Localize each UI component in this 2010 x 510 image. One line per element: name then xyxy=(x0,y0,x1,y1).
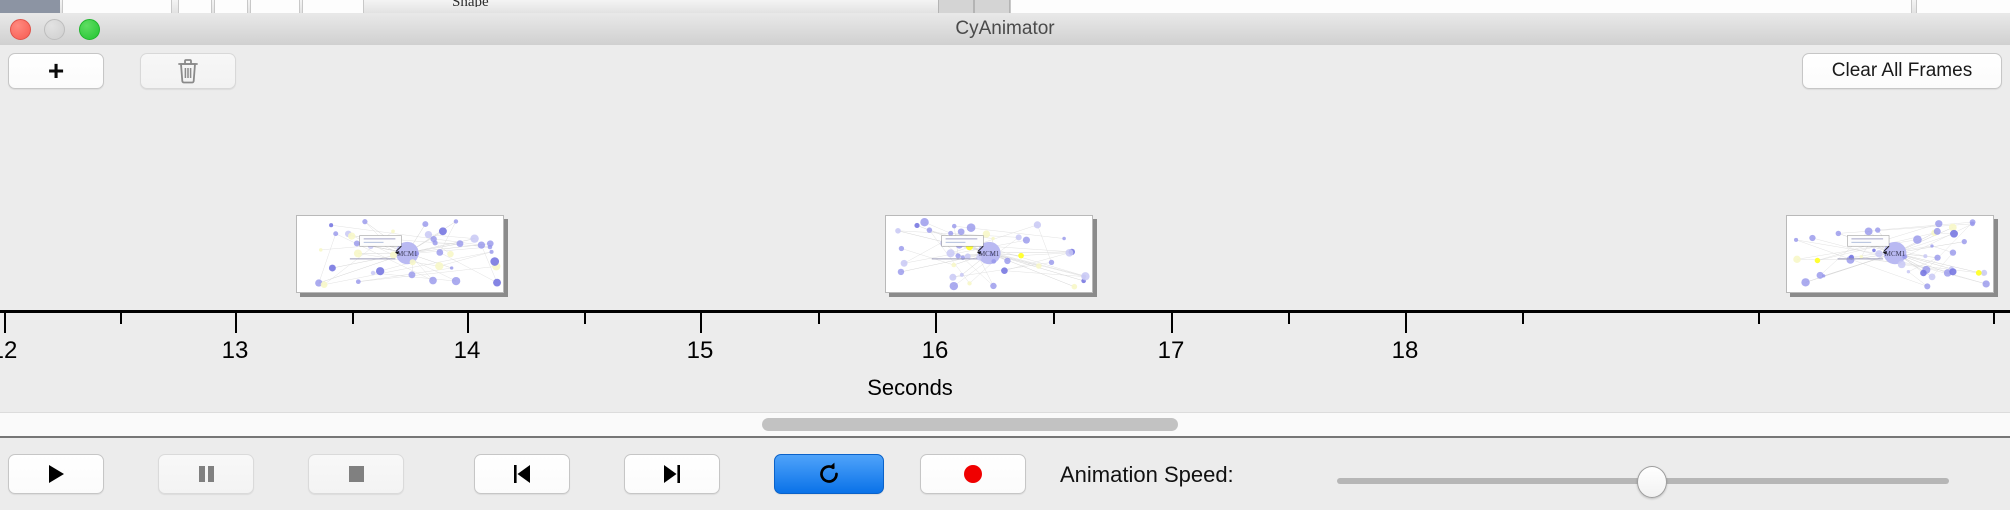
background-tab-6 xyxy=(1010,0,1912,13)
axis-tick-minor xyxy=(120,313,122,324)
trash-icon xyxy=(177,58,199,84)
delete-frame-button[interactable] xyxy=(140,53,236,89)
axis-tick-minor xyxy=(1993,313,1995,324)
timeline-panel[interactable]: MCM1 MCM1 MCM1 12131415161718 Seconds xyxy=(0,97,2010,412)
axis-tick-minor xyxy=(352,313,354,324)
axis-tick-major xyxy=(235,313,237,333)
skip-to-end-button[interactable] xyxy=(624,454,720,494)
axis-tick-major xyxy=(467,313,469,333)
background-window-word: Shape xyxy=(452,0,542,7)
pause-button[interactable] xyxy=(158,454,254,494)
axis-tick-minor xyxy=(584,313,586,324)
timeline-scrollbar-thumb[interactable] xyxy=(762,418,1178,431)
stop-icon xyxy=(344,462,368,486)
axis-tick-major xyxy=(1171,313,1173,333)
background-window-strip: Shape xyxy=(0,0,2010,13)
svg-text:MCM1: MCM1 xyxy=(979,251,1000,258)
frame-thumbnail-1[interactable]: MCM1 xyxy=(296,215,504,293)
axis-tick-minor xyxy=(1522,313,1524,324)
clear-all-frames-label: Clear All Frames xyxy=(1832,60,1972,82)
axis-tick-minor xyxy=(1758,313,1760,324)
animation-speed-label: Animation Speed: xyxy=(1060,462,1234,488)
background-tab-2 xyxy=(178,0,212,13)
background-box-1 xyxy=(938,0,974,13)
frame-toolbar: + Clear All Frames xyxy=(0,45,2010,99)
axis-tick-major xyxy=(1405,313,1407,333)
clear-all-frames-button[interactable]: Clear All Frames xyxy=(1802,53,2002,89)
play-button[interactable] xyxy=(8,454,104,494)
axis-tick-minor xyxy=(1053,313,1055,324)
loop-button[interactable] xyxy=(774,454,884,494)
background-tab-3 xyxy=(214,0,248,13)
timeline-axis-line xyxy=(0,310,2010,313)
background-tab-4 xyxy=(250,0,300,13)
svg-text:MCM1: MCM1 xyxy=(397,251,418,258)
record-button[interactable] xyxy=(920,454,1026,494)
stop-button[interactable] xyxy=(308,454,404,494)
frame-thumbnail-2[interactable]: MCM1 xyxy=(885,215,1093,293)
axis-tick-label: 16 xyxy=(922,337,949,365)
axis-tick-minor xyxy=(818,313,820,324)
play-icon xyxy=(44,462,68,486)
animation-speed-slider-thumb[interactable] xyxy=(1637,466,1667,498)
svg-text:MCM1: MCM1 xyxy=(1885,251,1906,258)
playback-control-bar: Animation Speed: xyxy=(0,436,2010,510)
loop-icon xyxy=(816,461,842,487)
axis-tick-label: 18 xyxy=(1392,337,1419,365)
axis-tick-label: 17 xyxy=(1158,337,1185,365)
background-window-sidebar xyxy=(0,0,60,13)
skip-back-icon xyxy=(510,462,534,486)
plus-icon: + xyxy=(48,57,64,85)
background-box-2 xyxy=(974,0,1010,13)
title-bar: CyAnimator xyxy=(0,13,2010,46)
pause-icon xyxy=(194,462,218,486)
background-tab-7 xyxy=(1916,0,2010,13)
axis-tick-major xyxy=(4,313,6,333)
skip-to-start-button[interactable] xyxy=(474,454,570,494)
window-title: CyAnimator xyxy=(0,13,2010,45)
record-icon xyxy=(961,462,985,486)
axis-tick-label: 15 xyxy=(687,337,714,365)
background-tab-5 xyxy=(302,0,364,13)
axis-tick-label: 14 xyxy=(454,337,481,365)
timeline-axis-title: Seconds xyxy=(0,375,1820,401)
axis-tick-label: 13 xyxy=(222,337,249,365)
frame-thumbnail-3[interactable]: MCM1 xyxy=(1786,215,1994,293)
cyanimator-window: Shape CyAnimator + Clear All Frames xyxy=(0,0,2010,510)
axis-tick-label: 12 xyxy=(0,337,17,365)
axis-tick-major xyxy=(700,313,702,333)
add-frame-button[interactable]: + xyxy=(8,53,104,89)
axis-tick-minor xyxy=(1288,313,1290,324)
background-tab-1 xyxy=(62,0,172,13)
skip-forward-icon xyxy=(660,462,684,486)
axis-tick-major xyxy=(935,313,937,333)
